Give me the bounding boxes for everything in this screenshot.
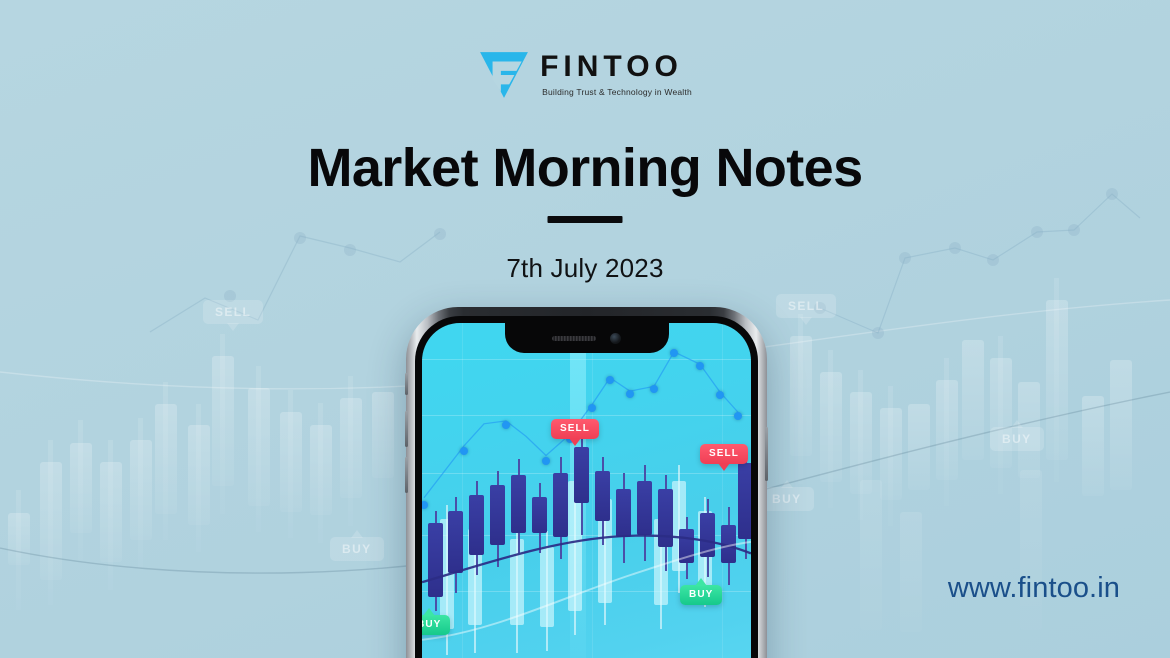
chart-point: [502, 421, 510, 429]
poster-canvas: SELL SELL BUY BUY BUY FINTOO Building Tr…: [0, 0, 1170, 658]
watermark-badge-sell-2: SELL: [776, 294, 836, 318]
chart-badge-buy-2[interactable]: BUY: [422, 615, 450, 635]
chart-point: [460, 447, 468, 455]
chart-point: [734, 412, 742, 420]
brand-logo: FINTOO Building Trust & Technology in We…: [0, 48, 1170, 100]
brand-name: FINTOO: [540, 52, 683, 82]
volume-down-button[interactable]: [405, 457, 408, 493]
watermark-badge-buy-2: BUY: [990, 427, 1044, 451]
chart-badge-buy-1[interactable]: BUY: [680, 585, 722, 605]
chart-point: [670, 349, 678, 357]
chart-point: [696, 362, 704, 370]
chart-point: [650, 385, 658, 393]
chart-point: [542, 457, 550, 465]
page-title: Market Morning Notes: [0, 137, 1170, 199]
chart-badge-sell-1[interactable]: SELL: [551, 419, 599, 439]
watermark-badge-buy-3: BUY: [760, 487, 814, 511]
chart-point: [588, 404, 596, 412]
watermark-badge-buy-1: BUY: [330, 537, 384, 561]
power-button[interactable]: [765, 427, 768, 481]
phone-screen[interactable]: SELL SELL BUY BUY: [422, 323, 751, 658]
site-url[interactable]: www.fintoo.in: [948, 572, 1120, 605]
page-date: 7th July 2023: [0, 253, 1170, 284]
chart-overlay-lines: [422, 323, 751, 658]
watermark-badge-sell-1: SELL: [203, 300, 263, 324]
volume-up-button[interactable]: [405, 411, 408, 447]
brand-tagline: Building Trust & Technology in Wealth: [542, 87, 692, 97]
fintoo-triangle-f-logo-icon: [478, 48, 530, 100]
phone-notch: [505, 323, 669, 353]
earpiece-speaker-icon: [552, 336, 596, 341]
phone-mockup: SELL SELL BUY BUY: [406, 307, 767, 658]
mute-switch[interactable]: [405, 373, 408, 395]
chart-point: [716, 391, 724, 399]
chart-point: [626, 390, 634, 398]
chart-point: [606, 376, 614, 384]
title-divider: [548, 216, 623, 223]
chart-badge-sell-2[interactable]: SELL: [700, 444, 748, 464]
front-camera-icon: [610, 333, 621, 344]
